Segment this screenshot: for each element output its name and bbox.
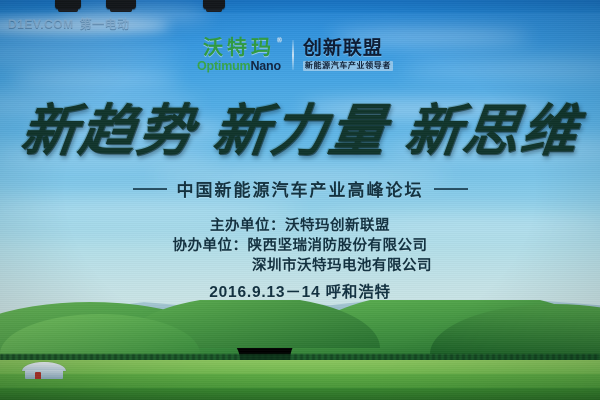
alliance-name: 创新联盟: [303, 39, 393, 58]
banner-clamp: [55, 0, 81, 9]
subtitle-rule-left: [133, 188, 167, 190]
sponsor-logo-lockup: 沃特玛 ® OptimumNano 创新联盟 新能源汽车产业领导者: [197, 33, 393, 77]
registered-trademark-icon: ®: [277, 37, 282, 44]
banner-clamp: [203, 0, 225, 9]
brand-name-en-secondary: Nano: [250, 59, 280, 73]
brand-name-en-primary: Optimum: [197, 59, 250, 73]
yurt: [22, 362, 66, 379]
host-organization-line: 主办单位：沃特玛创新联盟: [0, 216, 600, 236]
date-and-location: 2016.9.13－14 呼和浩特: [0, 280, 600, 302]
conference-banner-photo: D1EV.COM第一电动 沃特玛 ® OptimumNano 创新联盟 新能源汽…: [0, 0, 600, 400]
subtitle-rule-right: [434, 188, 468, 190]
headline-part-3: 新思维: [401, 101, 583, 163]
organizer-credits: 主办单位：沃特玛创新联盟 协办单位：陕西坚瑞消防股份有限公司 深圳市沃特玛电池有…: [0, 216, 600, 276]
banner-clamp: [106, 0, 136, 9]
yurt-wall: [25, 370, 63, 379]
brand-name-en: OptimumNano: [197, 60, 281, 73]
logo-divider: [292, 40, 294, 70]
cohost-organization-line-2: 深圳市沃特玛电池有限公司: [0, 256, 600, 276]
alliance-logo: 创新联盟 新能源汽车产业领导者: [303, 39, 393, 71]
optimumnano-logo: 沃特玛 ® OptimumNano: [197, 38, 281, 73]
meadow-front-edge: [0, 388, 600, 400]
event-subtitle: 中国新能源汽车产业高峰论坛: [177, 176, 424, 201]
headline-part-1: 新趋势: [17, 101, 199, 163]
cohost-organization-line: 协办单位：陕西坚瑞消防股份有限公司: [0, 236, 600, 256]
watermark-name: 第一电动: [80, 17, 130, 31]
watermark-site: D1EV.COM: [8, 17, 74, 31]
headline-slogan: 新趋势新力量新思维: [0, 104, 600, 160]
grassland-landscape: [0, 300, 600, 400]
alliance-tagline: 新能源汽车产业领导者: [303, 61, 393, 71]
brand-name-cn: 沃特玛 ®: [203, 38, 275, 58]
sky-top-band: [0, 0, 600, 13]
headline-part-2: 新力量: [209, 101, 391, 163]
yurt-door: [35, 372, 41, 379]
watermark: D1EV.COM第一电动: [8, 15, 130, 32]
brand-name-cn-text: 沃特玛: [203, 37, 275, 59]
subtitle-row: 中国新能源汽车产业高峰论坛: [0, 176, 600, 201]
